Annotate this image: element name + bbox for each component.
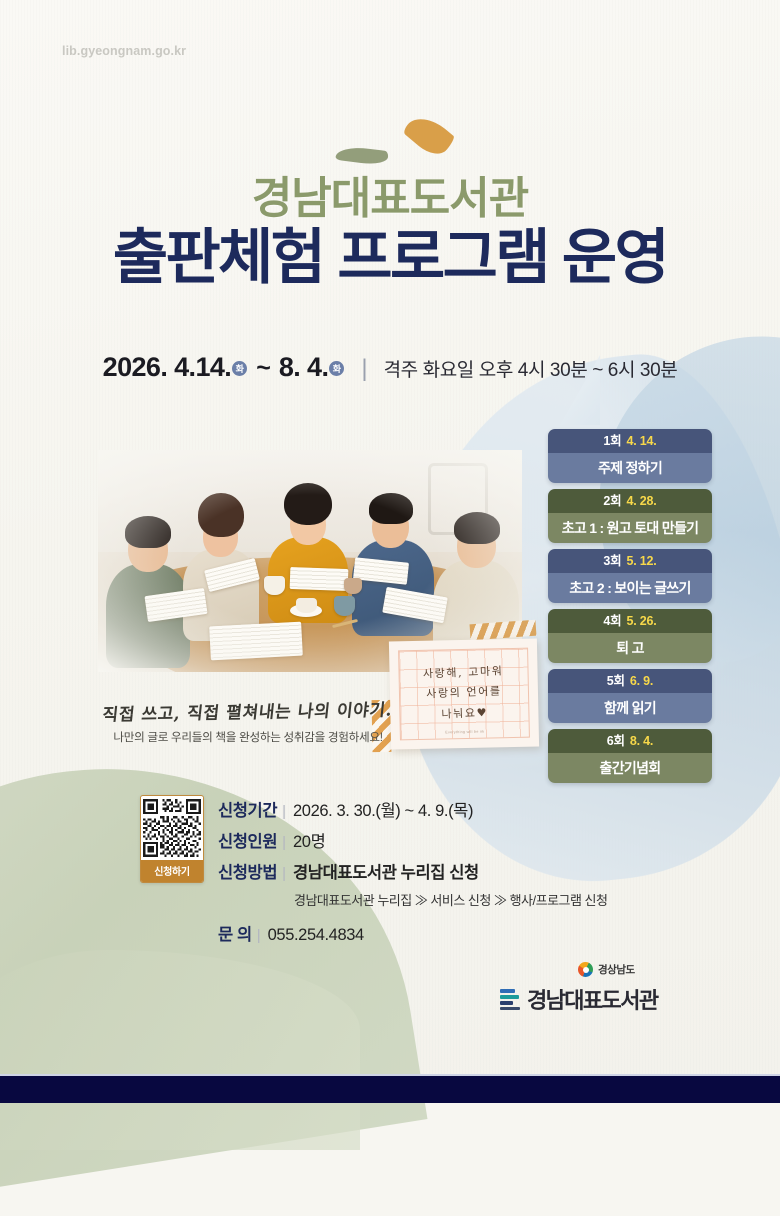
tagline-block: 직접 쓰고, 직접 펼쳐내는 나의 이야기. 나만의 글로 우리들의 책을 완성… [98,698,398,745]
note-line-3: 나눠요♥ [400,701,529,726]
session-box-4: 4회5. 26. 퇴 고 [548,609,712,663]
session-date: 5. 12. [626,554,656,568]
start-day-badge: 화 [232,361,247,376]
photo-vignette [98,450,522,672]
capacity-value: 20명 [293,828,325,852]
session-header: 5회6. 9. [548,669,712,693]
session-number: 1회 [603,434,621,448]
info-row-contact: 문 의 | 055.254.4834 [218,921,688,945]
qr-apply-label[interactable]: 신청하기 [141,860,203,882]
session-header: 3회5. 12. [548,549,712,573]
session-header: 6회8. 4. [548,729,712,753]
end-date: 8. 4. [279,352,329,383]
application-info-block: 신청기간 | 2026. 3. 30.(월) ~ 4. 9.(목) 신청인원 |… [218,797,688,952]
note-handwriting: 사랑해, 고마워 사랑의 언어를 나눠요♥ [399,661,529,727]
session-date: 4. 14. [626,434,656,448]
session-time-text: 격주 화요일 오후 4시 30분 ~ 6시 30분 [384,355,678,382]
period-value: 2026. 3. 30.(월) ~ 4. 9.(목) [293,797,473,821]
session-topic: 퇴 고 [548,633,712,663]
library-logo: 경남대표도서관 [500,983,700,1015]
date-range-tilde: ~ [256,354,271,383]
session-header: 4회5. 26. [548,609,712,633]
footer-bar [0,1076,780,1103]
session-date: 8. 4. [630,734,653,748]
info-divider: | [282,803,286,820]
info-row-method: 신청방법 | 경남대표도서관 누리집 신청 [218,859,688,883]
session-topic: 함께 읽기 [548,693,712,723]
note-credit: Everything will be ok [401,729,529,736]
session-topic: 출간기념회 [548,753,712,783]
session-schedule-list: 1회4. 14. 주제 정하기 2회4. 28. 초고 1 : 원고 토대 만들… [548,429,712,789]
handwritten-note-card: 사랑해, 고마워 사랑의 언어를 나눠요♥ Everything will be… [389,638,539,749]
application-qr-code[interactable]: 신청하기 [140,795,204,883]
gyeongsangnamdo-emblem-icon [578,962,593,977]
end-day-badge: 화 [329,361,344,376]
dateline-divider: | [361,355,367,383]
session-box-5: 5회6. 9. 함께 읽기 [548,669,712,723]
leaf-green-icon [335,145,388,166]
session-date: 5. 26. [626,614,656,628]
contact-label: 문 의 [218,921,252,945]
info-row-capacity: 신청인원 | 20명 [218,828,688,852]
session-topic: 초고 2 : 보이는 글쓰기 [548,573,712,603]
session-number: 3회 [603,554,621,568]
period-label: 신청기간 [218,797,277,821]
session-box-3: 3회5. 12. 초고 2 : 보이는 글쓰기 [548,549,712,603]
province-logo: 경상남도 [578,962,700,977]
info-row-period: 신청기간 | 2026. 3. 30.(월) ~ 4. 9.(목) [218,797,688,821]
poster-canvas: lib.gyeongnam.go.kr 경남대표도서관 출판체험 프로그램 운영… [0,0,780,1103]
session-header: 2회4. 28. [548,489,712,513]
contact-value: 055.254.4834 [268,926,364,945]
capacity-label: 신청인원 [218,828,277,852]
qr-code-icon [141,796,203,860]
session-number: 4회 [603,614,621,628]
session-header: 1회4. 14. [548,429,712,453]
info-divider: | [257,927,261,944]
session-number: 2회 [603,494,621,508]
note-grid: 사랑해, 고마워 사랑의 언어를 나눠요♥ Everything will be… [398,648,530,741]
book-stack-icon [500,988,520,1010]
program-dateline: 2026. 4.14. 화 ~ 8. 4. 화 | 격주 화요일 오후 4시 3… [0,352,780,383]
background-green-shape-secondary [0,950,360,1150]
page-title: 경남대표도서관 출판체험 프로그램 운영 [0,176,780,291]
method-label: 신청방법 [218,859,277,883]
site-url: lib.gyeongnam.go.kr [62,44,186,58]
session-date: 4. 28. [626,494,656,508]
library-name: 경남대표도서관 [527,983,657,1015]
group-study-photo [98,450,522,672]
session-date: 6. 9. [630,674,653,688]
session-topic: 주제 정하기 [548,453,712,483]
session-box-1: 1회4. 14. 주제 정하기 [548,429,712,483]
info-divider: | [282,865,286,882]
session-box-6: 6회8. 4. 출간기념회 [548,729,712,783]
start-date: 2026. 4.14. [103,352,232,383]
leaf-orange-icon [402,109,457,162]
session-box-2: 2회4. 28. 초고 1 : 원고 토대 만들기 [548,489,712,543]
footer-logos: 경상남도 경남대표도서관 [500,962,700,1015]
province-name: 경상남도 [598,962,635,977]
title-line-organization: 경남대표도서관 [0,176,780,223]
title-line-program: 출판체험 프로그램 운영 [0,224,780,291]
session-topic: 초고 1 : 원고 토대 만들기 [548,513,712,543]
method-value: 경남대표도서관 누리집 신청 [293,859,479,883]
tagline-headline: 직접 쓰고, 직접 펼쳐내는 나의 이야기. [102,695,394,725]
info-divider: | [282,834,286,851]
method-navigation-path: 경남대표도서관 누리집 ≫ 서비스 신청 ≫ 행사/프로그램 신청 [294,890,688,909]
tagline-subtext: 나만의 글로 우리들의 책을 완성하는 성취감을 경험하세요! [98,729,398,745]
session-number: 6회 [607,734,625,748]
session-number: 5회 [607,674,625,688]
